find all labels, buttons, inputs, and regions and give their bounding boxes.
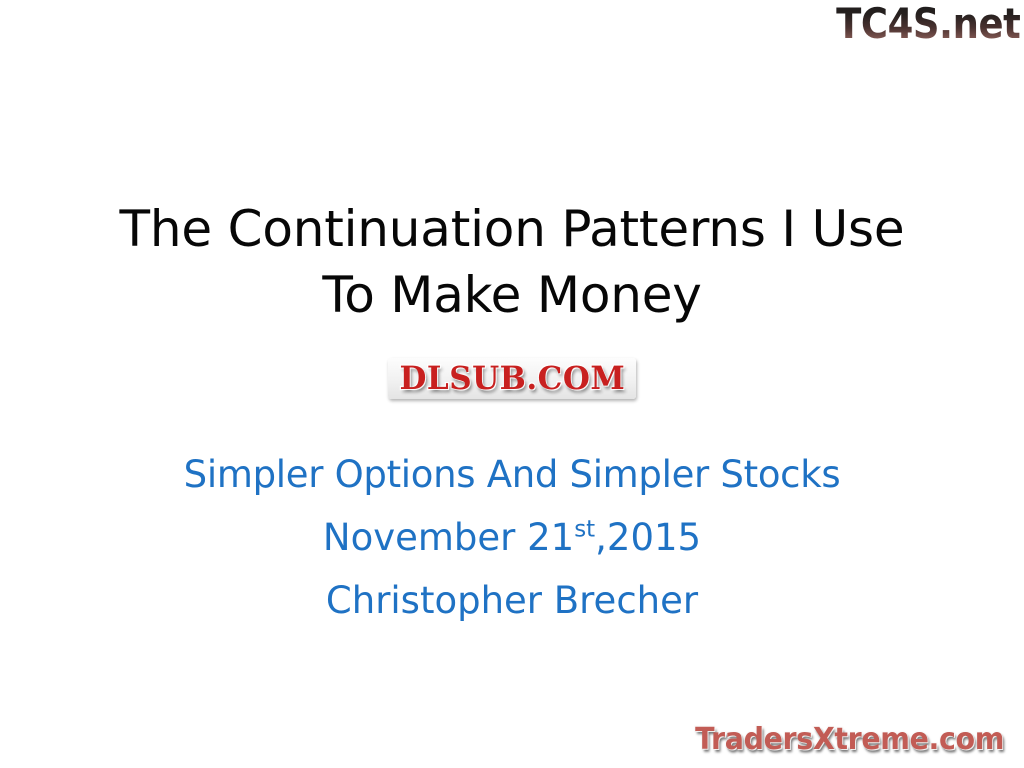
subtitle-date: November 21st,2015 — [0, 506, 1024, 569]
watermark-tradersxtreme-text: TradersXtreme.com — [695, 722, 1004, 758]
date-ordinal-suffix: st — [574, 517, 595, 543]
title-line-2: To Make Money — [0, 262, 1024, 328]
page-title: The Continuation Patterns I Use To Make … — [0, 196, 1024, 328]
presentation-slide: TC4S.net The Continuation Patterns I Use… — [0, 0, 1024, 768]
dlsub-logo-banner: DLSUB.COM — [388, 358, 637, 399]
subtitle-presenter: Christopher Brecher — [0, 569, 1024, 633]
subtitle-company: Simpler Options And Simpler Stocks — [0, 444, 1024, 506]
watermark-tc4s: TC4S.net — [836, 0, 1020, 48]
dlsub-logo-text: DLSUB.COM — [399, 360, 625, 396]
watermark-tradersxtreme: TradersXtreme.com — [681, 720, 1018, 760]
title-line-1: The Continuation Patterns I Use — [0, 196, 1024, 262]
date-prefix: November 21 — [323, 516, 574, 559]
logo-banner-row: DLSUB.COM — [0, 358, 1024, 399]
date-suffix: ,2015 — [595, 516, 701, 559]
subtitle-block: Simpler Options And Simpler Stocks Novem… — [0, 444, 1024, 633]
